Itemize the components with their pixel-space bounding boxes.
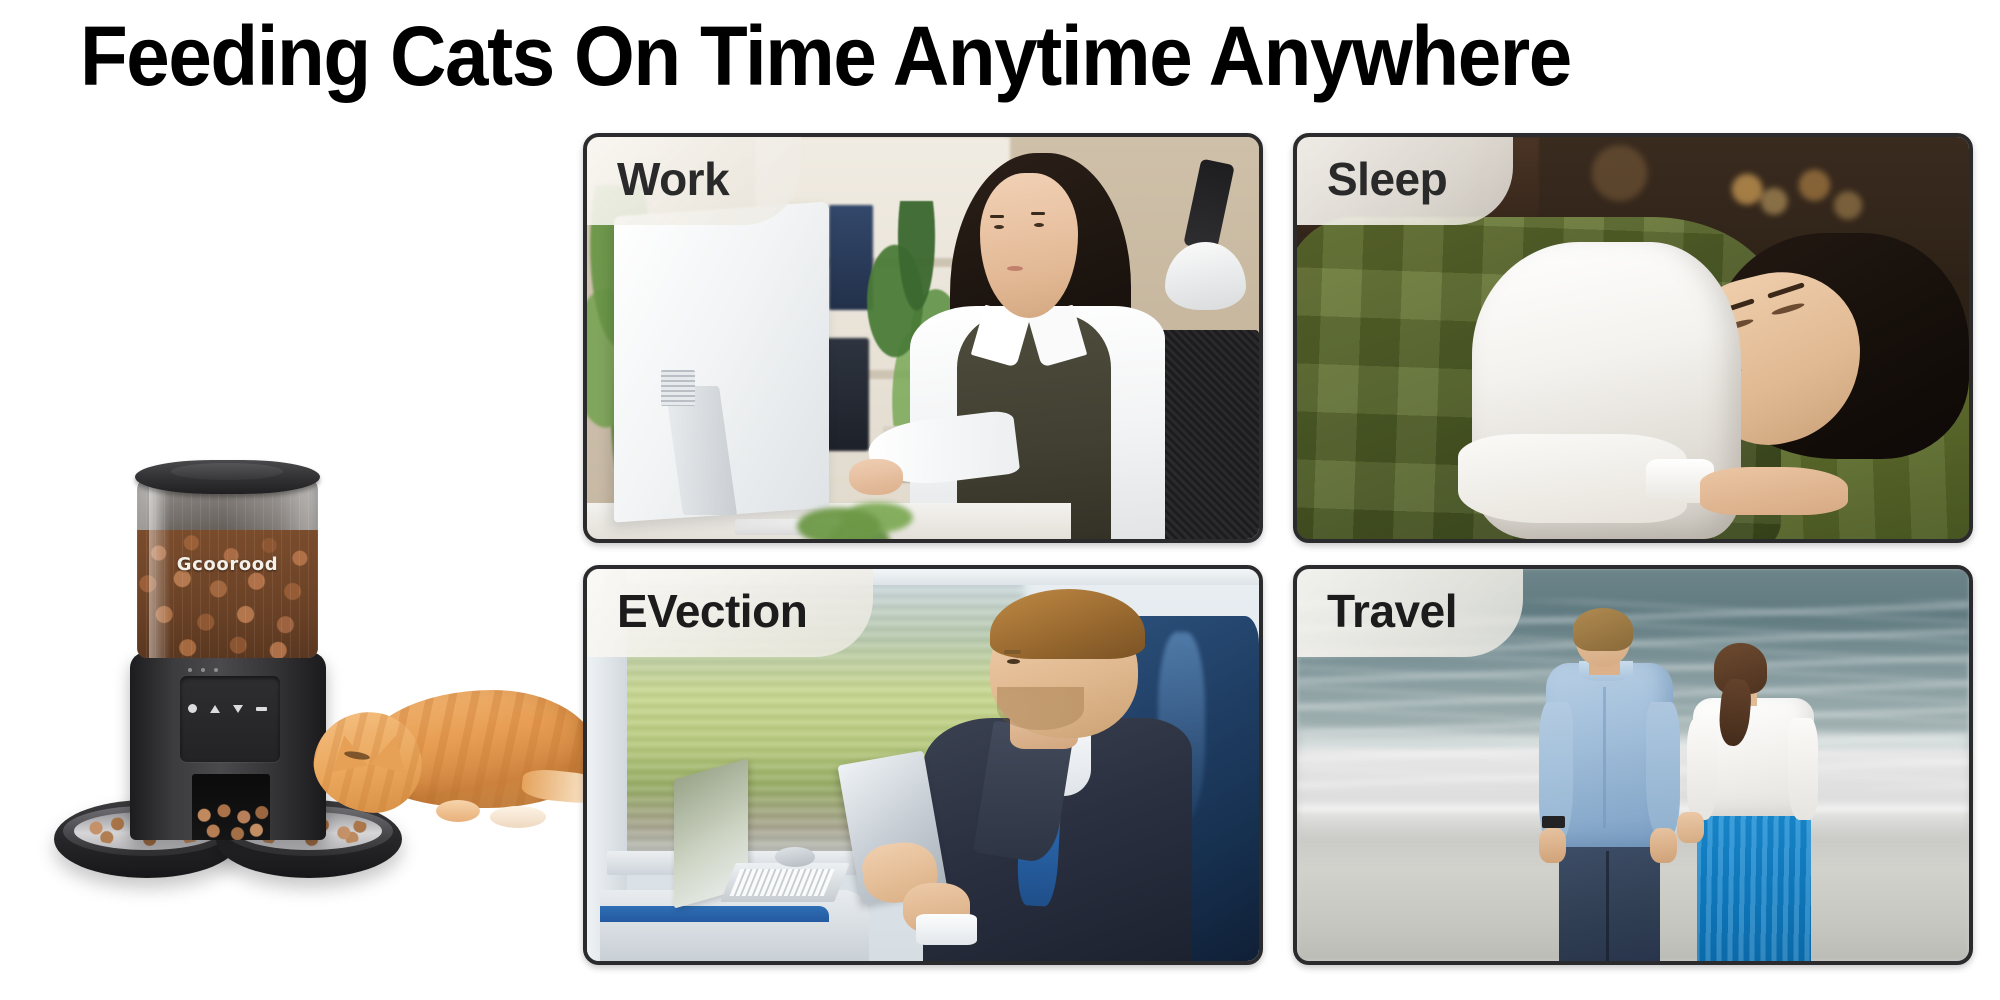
shirt-cuff bbox=[916, 914, 976, 945]
led-indicator bbox=[188, 668, 192, 672]
card-label-text: Sleep bbox=[1327, 156, 1447, 202]
product-image-automatic-pet-feeder: Gcoorood bbox=[40, 430, 560, 900]
woman-arm-right bbox=[1788, 718, 1818, 820]
shirt-back-seam bbox=[1603, 687, 1606, 828]
led-indicator bbox=[201, 668, 205, 672]
tray-table-edge bbox=[600, 906, 828, 922]
hopper-lid-inner bbox=[171, 463, 283, 480]
increase-button-icon[interactable] bbox=[210, 705, 220, 713]
food-hopper-tank: Gcoorood bbox=[137, 476, 318, 658]
woman-blue-skirt bbox=[1697, 804, 1811, 961]
man-arm-right bbox=[1646, 702, 1680, 835]
man-hand-left bbox=[1539, 828, 1566, 863]
scenario-card-sleep[interactable]: Sleep bbox=[1293, 133, 1973, 543]
woman-lips bbox=[1007, 266, 1023, 271]
card-label-badge-sleep: Sleep bbox=[1293, 133, 1513, 225]
page-title: Feeding Cats On Time Anytime Anywhere bbox=[0, 14, 1767, 100]
sleeper-arm bbox=[1700, 467, 1848, 515]
food-dispense-chute bbox=[192, 774, 270, 840]
jeans-seam bbox=[1606, 851, 1609, 961]
feeder-body bbox=[130, 652, 326, 840]
card-label-text: EVection bbox=[617, 588, 807, 634]
product-brand-label: Gcoorood bbox=[137, 554, 318, 575]
indicator-led-row bbox=[188, 668, 218, 672]
card-label-text: Work bbox=[617, 156, 729, 202]
food-stream-left bbox=[89, 335, 144, 416]
woman-arm-left bbox=[1687, 718, 1717, 820]
businessman-eyebrow bbox=[1004, 650, 1021, 654]
woman-eye bbox=[1034, 223, 1044, 227]
card-label-badge-work: Work bbox=[583, 133, 801, 225]
cat-ear-right bbox=[370, 731, 413, 773]
control-panel bbox=[180, 676, 280, 762]
woman-eyebrow bbox=[990, 215, 1004, 218]
woman-hand-holding bbox=[1677, 812, 1704, 843]
laptop-keyboard bbox=[729, 869, 834, 896]
wristband bbox=[1542, 816, 1565, 828]
man-jeans bbox=[1559, 836, 1660, 961]
food-stream-right bbox=[179, 335, 234, 416]
man-hair bbox=[1573, 608, 1633, 651]
led-indicator bbox=[214, 668, 218, 672]
set-button-icon[interactable] bbox=[256, 707, 267, 711]
monitor-vent bbox=[661, 370, 695, 406]
businessman-beard bbox=[997, 687, 1084, 730]
woman-eyebrow bbox=[1031, 212, 1045, 215]
control-button-row bbox=[188, 704, 267, 713]
chute-kibble bbox=[192, 802, 270, 840]
card-label-badge-travel: Travel bbox=[1293, 565, 1523, 657]
scenario-card-travel[interactable]: Travel bbox=[1293, 565, 1973, 965]
computer-mouse bbox=[775, 847, 815, 867]
cat-paw bbox=[490, 806, 546, 828]
man-hand-right-holding bbox=[1650, 828, 1677, 863]
card-label-text: Travel bbox=[1327, 588, 1457, 634]
cat-illustration bbox=[308, 668, 598, 848]
scenario-card-work[interactable]: Work bbox=[583, 133, 1263, 543]
decrease-button-icon[interactable] bbox=[233, 705, 243, 713]
foreground-plant bbox=[789, 483, 937, 539]
card-label-badge-evection: EVection bbox=[583, 565, 873, 657]
lifestyle-scenario-grid: Work Sleep bbox=[583, 133, 1973, 963]
power-button-icon[interactable] bbox=[188, 704, 197, 713]
cat-paw bbox=[436, 800, 480, 822]
scenario-card-evection[interactable]: EVection bbox=[583, 565, 1263, 965]
